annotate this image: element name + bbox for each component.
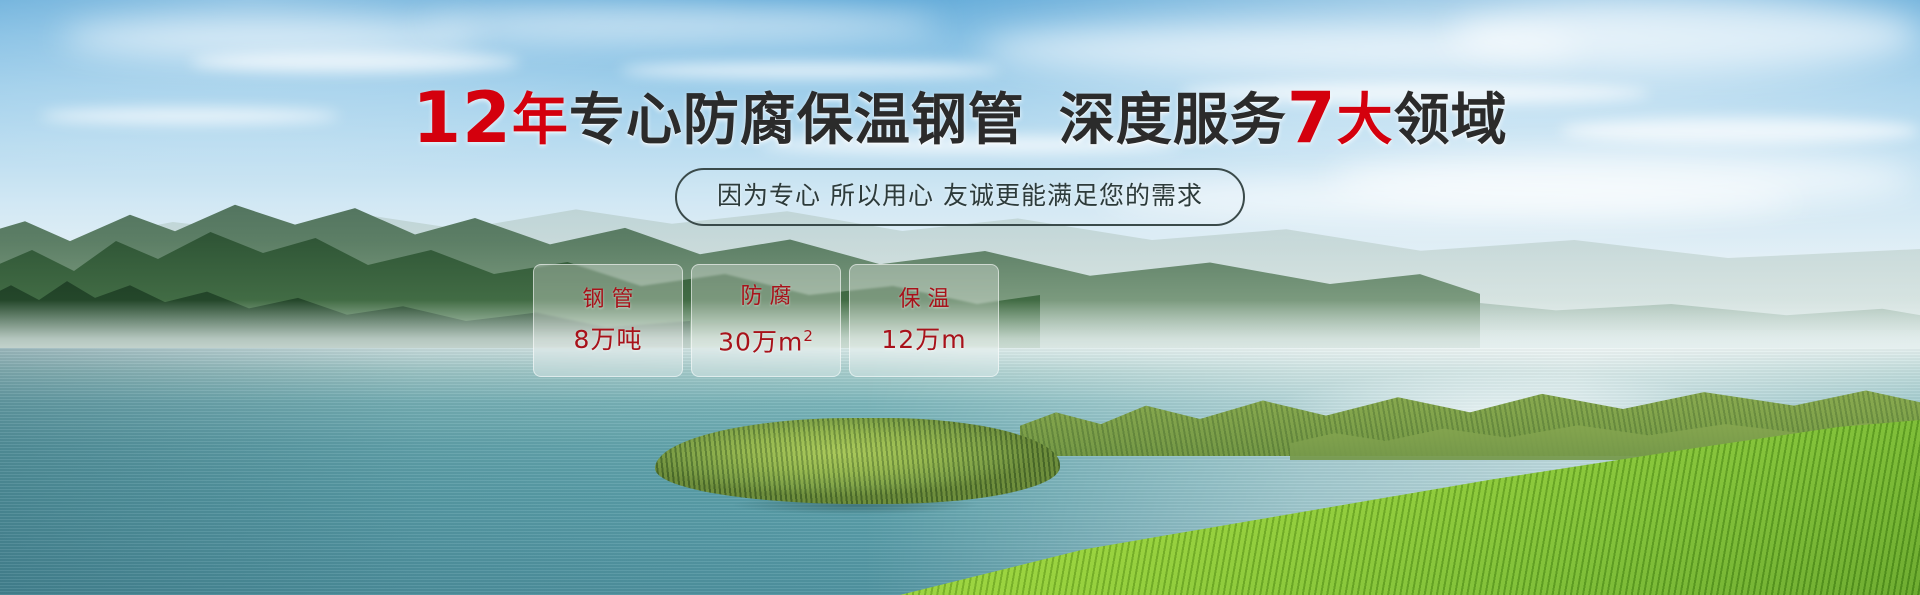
headline-fields-number: 7 [1287, 77, 1337, 159]
stat-card-title: 钢管 [575, 288, 640, 312]
promo-banner: 12年专心防腐保温钢管深度服务7大领域 因为专心 所以用心 友诚更能满足您的需求… [0, 0, 1920, 595]
stat-card-title: 保温 [891, 288, 956, 312]
subtitle-container: 因为专心 所以用心 友诚更能满足您的需求 [0, 168, 1920, 226]
stat-card-title: 防腐 [733, 285, 798, 309]
stat-card-steel-pipe[interactable]: 钢管 8万吨 [533, 264, 683, 377]
stat-card-value: 30万m2 [718, 323, 814, 355]
stat-card-anticorrosion[interactable]: 防腐 30万m2 [691, 264, 841, 377]
page-title: 12年专心防腐保温钢管深度服务7大领域 [0, 85, 1920, 154]
headline-fields-tail: 领域 [1394, 88, 1508, 153]
headline-years-number: 12 [412, 77, 511, 159]
headline-years-unit: 年 [512, 88, 569, 153]
stat-value-main: 8万吨 [574, 325, 643, 354]
stat-card-value: 8万吨 [574, 326, 643, 353]
banner-content: 12年专心防腐保温钢管深度服务7大领域 因为专心 所以用心 友诚更能满足您的需求… [0, 0, 1920, 595]
stat-card-list: 钢管 8万吨 防腐 30万m2 保温 12万m [533, 264, 999, 377]
headline-second-lead: 深度服务 [1059, 88, 1287, 153]
stat-value-superscript: 2 [803, 327, 814, 345]
subtitle-pill: 因为专心 所以用心 友诚更能满足您的需求 [675, 168, 1245, 226]
headline-main-text: 专心防腐保温钢管 [569, 88, 1025, 153]
stat-card-value: 12万m [881, 326, 966, 353]
stat-card-insulation[interactable]: 保温 12万m [849, 264, 999, 377]
stat-value-main: 12万m [881, 325, 966, 354]
stat-value-main: 30万m [718, 328, 803, 357]
headline-fields-unit: 大 [1337, 88, 1394, 153]
